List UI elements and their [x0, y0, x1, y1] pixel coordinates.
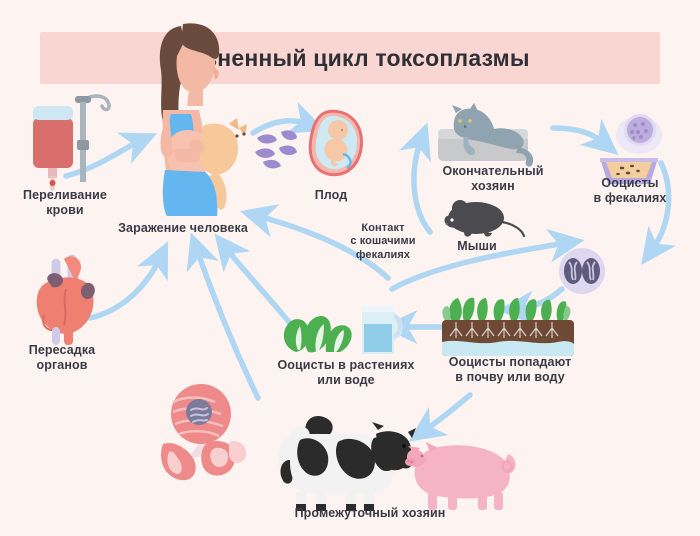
label-oocysts-soil-water: Ооцисты попадают в почву или воду	[425, 355, 595, 386]
heart-anatomical-icon	[26, 253, 112, 345]
lettuce-and-water-jug-icon	[278, 300, 408, 360]
fetus-in-womb-icon	[305, 108, 369, 180]
label-definitive-host: Окончательный хозяин	[428, 164, 558, 195]
pregnant-woman-with-cat-icon	[133, 14, 263, 216]
label-blood-transfusion: Переливание крови	[0, 188, 130, 219]
mouse-icon	[440, 198, 526, 240]
arrow-meat-to-human	[197, 250, 258, 398]
sporulated-oocyst-icon	[554, 246, 610, 296]
infographic-canvas: Жизненный цикл токсоплазмы	[0, 0, 700, 536]
arrow-soil-to-intermediate	[424, 395, 470, 431]
pig-icon	[400, 432, 520, 512]
label-mice: Мыши	[443, 239, 511, 254]
label-fetus: Плод	[300, 188, 362, 203]
tissue-cyst-in-meat-icon	[155, 382, 265, 490]
tachyzoites-icon	[253, 128, 305, 170]
label-oocysts-plants-water: Ооцисты в растениях или воде	[262, 358, 430, 389]
cat-on-sofa-icon	[430, 103, 558, 169]
plants-in-soil-icon	[438, 294, 578, 360]
label-cat-feces-contact: Контакт с кошачими фекалиях	[331, 222, 435, 262]
label-organ-transplant: Пересадка органов	[0, 343, 124, 374]
arrow-cat-to-oocysts	[553, 128, 604, 143]
label-oocysts-in-feces: Ооцисты в фекалиях	[578, 176, 682, 207]
label-intermediate-host: Промежуточный хозяин	[270, 506, 470, 521]
blood-bag-iv-stand-icon	[12, 86, 122, 191]
cow-icon	[272, 400, 416, 512]
label-human-infection: Заражение человека	[108, 221, 258, 236]
